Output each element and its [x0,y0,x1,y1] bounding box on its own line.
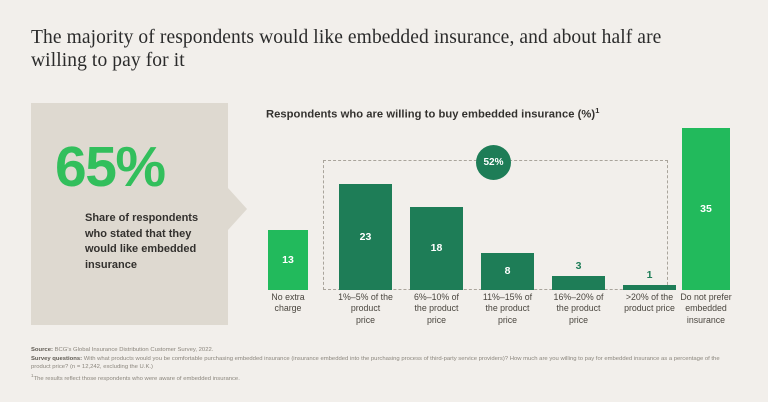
callout-badge-52: 52% [476,145,511,180]
footnote-source: Source: BCG's Global Insurance Distribut… [31,346,731,355]
page-title: The majority of respondents would like e… [31,26,721,72]
x-axis-label: Do not preferembeddedinsurance [672,292,740,326]
chart-title-text: Respondents who are willing to buy embed… [266,109,595,121]
x-axis-label: 11%–15% ofthe productprice [471,292,544,326]
bar-column[interactable]: 35 [682,128,730,290]
footnote-note-1: 1The results reflect those respondents w… [31,372,731,384]
bar-value-label: 13 [268,254,308,266]
footnote-source-label: Source: [31,347,53,353]
bar[interactable] [623,285,676,290]
x-axis-label: 16%–20% ofthe productprice [542,292,615,326]
bar-value-label: 35 [682,203,730,215]
slide-canvas: The majority of respondents would like e… [0,0,768,402]
bar-chart-plot-area: 13231883135 52% [258,128,740,290]
highlight-stat-caption: Share of respondents who stated that the… [85,211,220,273]
footnote-questions-text: With what products would you be comforta… [31,356,720,371]
footnote-block: Source: BCG's Global Insurance Distribut… [31,346,731,383]
panel-arrow-pointer-icon [228,188,247,230]
bar-column[interactable]: 3 [552,128,605,290]
bar-column[interactable]: 1 [623,128,676,290]
bar[interactable] [552,276,605,290]
bar-value-label: 8 [481,265,534,277]
footnote-note-text: The results reflect those respondents wh… [34,376,240,382]
chart-title-footnote-marker: 1 [595,106,599,115]
highlight-stat-panel: 65% Share of respondents who stated that… [31,103,228,325]
bar-column[interactable]: 13 [268,128,308,290]
bar-value-label: 3 [552,260,605,272]
x-axis-label: 6%–10% ofthe productprice [400,292,473,326]
bar-column[interactable]: 23 [339,128,392,290]
bar-value-label: 18 [410,242,463,254]
highlight-stat-value: 65% [55,139,165,196]
footnote-questions: Survey questions: With what products wou… [31,355,731,372]
bar-value-label: 23 [339,231,392,243]
chart-title: Respondents who are willing to buy embed… [266,106,599,121]
x-axis-label: 1%–5% of theproductprice [329,292,402,326]
bar-column[interactable]: 18 [410,128,463,290]
bar-value-label: 1 [623,269,676,281]
footnote-source-text: BCG's Global Insurance Distribution Cust… [53,347,213,353]
x-axis-label-group: No extracharge1%–5% of theproductprice6%… [258,292,740,338]
x-axis-label: No extracharge [258,292,318,315]
footnote-questions-label: Survey questions: [31,356,82,362]
